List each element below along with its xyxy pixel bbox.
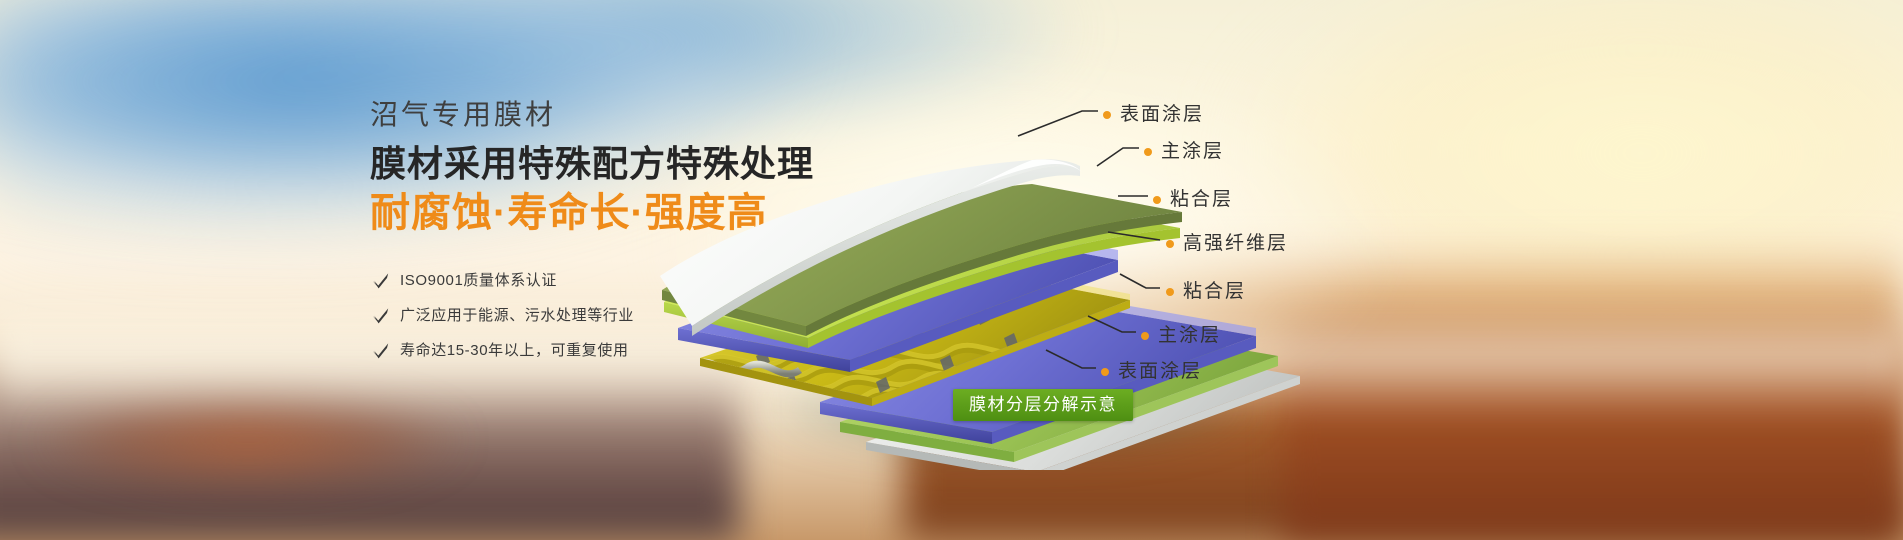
callout-dot-icon	[1144, 148, 1152, 156]
callout-main-coating-bottom[interactable]: 主涂层	[1141, 326, 1221, 345]
callout-dot-icon	[1141, 332, 1149, 340]
callout-label: 主涂层	[1161, 142, 1224, 161]
callout-dot-icon	[1101, 368, 1109, 376]
callout-label: 表面涂层	[1118, 362, 1202, 381]
callout-label: 粘合层	[1183, 282, 1246, 301]
callout-label: 主涂层	[1158, 326, 1221, 345]
callout-high-strength-fiber[interactable]: 高强纤维层	[1166, 234, 1288, 253]
feature-label: 寿命达15-30年以上，可重复使用	[400, 343, 629, 358]
feature-label: ISO9001质量体系认证	[400, 273, 557, 288]
callout-dot-icon	[1103, 111, 1111, 119]
callout-surface-coating-top[interactable]: 表面涂层	[1103, 105, 1204, 124]
callout-adhesive-top[interactable]: 粘合层	[1153, 190, 1233, 209]
check-icon	[372, 307, 390, 325]
callout-label: 粘合层	[1170, 190, 1233, 209]
check-icon	[372, 272, 390, 290]
eyebrow-text: 沼气专用膜材	[370, 98, 840, 132]
diagram-caption-badge: 膜材分层分解示意	[953, 389, 1133, 421]
callout-surface-coating-bottom[interactable]: 表面涂层	[1101, 362, 1202, 381]
callout-label: 高强纤维层	[1183, 234, 1288, 253]
callout-dot-icon	[1166, 288, 1174, 296]
callout-dot-icon	[1166, 240, 1174, 248]
check-icon	[372, 342, 390, 360]
feature-label: 广泛应用于能源、污水处理等行业	[400, 308, 634, 323]
callout-main-coating-top[interactable]: 主涂层	[1144, 142, 1224, 161]
hero-banner: 沼气专用膜材 膜材采用特殊配方特殊处理 耐腐蚀·寿命长·强度高 ISO9001质…	[0, 0, 1903, 540]
callout-adhesive-bottom[interactable]: 粘合层	[1166, 282, 1246, 301]
callout-label: 表面涂层	[1120, 105, 1204, 124]
callout-dot-icon	[1153, 196, 1161, 204]
